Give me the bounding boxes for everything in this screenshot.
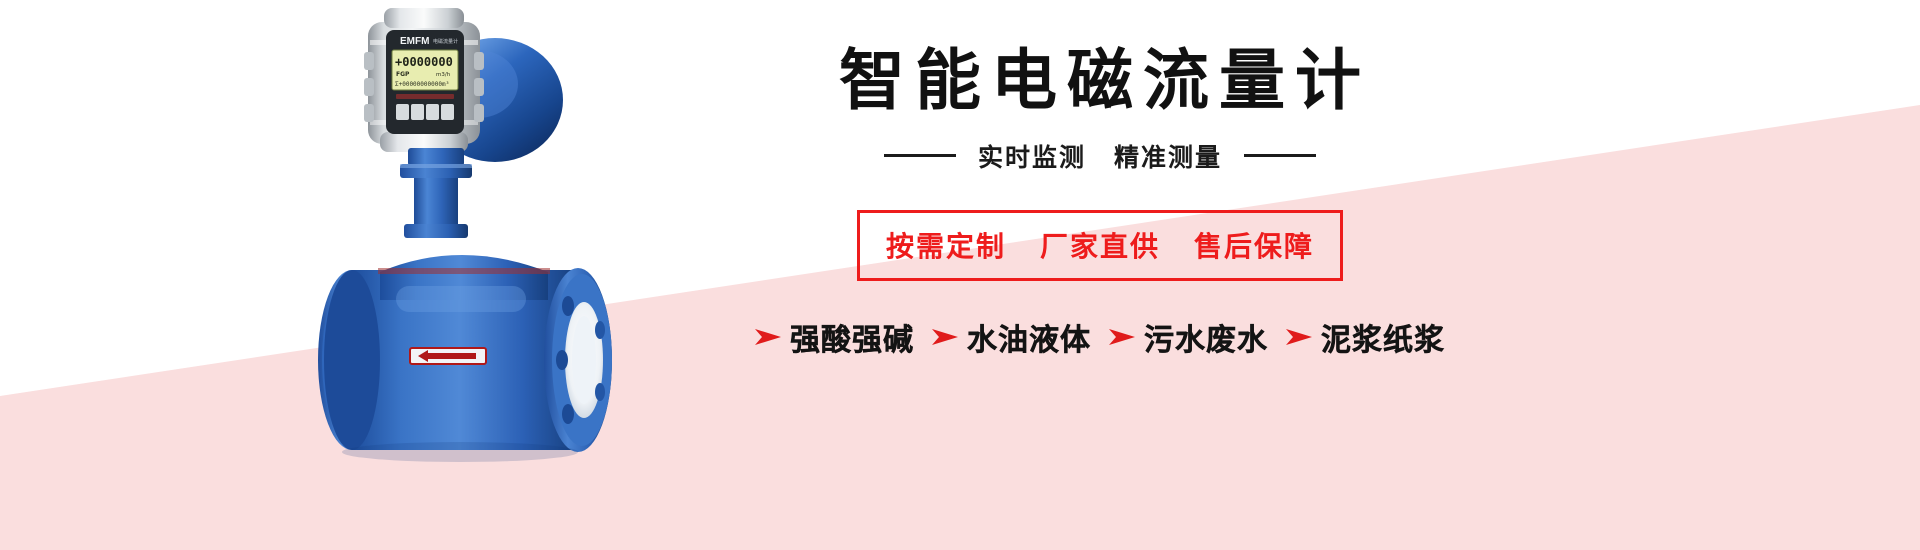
triangle-right-icon bbox=[1286, 327, 1312, 347]
subtitle-item-0: 实时监测 bbox=[978, 138, 1086, 174]
promo-badge-text: 按需定制 厂家直供 售后保障 bbox=[886, 225, 1314, 265]
feature-item-1: 水油液体 bbox=[932, 315, 1091, 359]
triangle-right-icon bbox=[755, 327, 781, 347]
feature-item-0: 强酸强碱 bbox=[755, 315, 914, 359]
product-banner: EMFM 电磁流量计 +0000000 FGP m3/h Σ+000000000… bbox=[0, 0, 1920, 550]
feature-item-3: 泥浆纸浆 bbox=[1286, 315, 1445, 359]
feature-list: 强酸强碱 水油液体 污水废水 泥浆纸浆 bbox=[755, 315, 1445, 359]
badge-item-1: 厂家直供 bbox=[1040, 225, 1160, 265]
banner-content: 智能电磁流量计 实时监测 精准测量 按需定制 厂家直供 售后保障 强酸强碱 bbox=[600, 0, 1600, 550]
converter-neck bbox=[400, 148, 472, 238]
badge-item-2: 售后保障 bbox=[1194, 225, 1314, 265]
lcd-right-label: m3/h bbox=[436, 72, 451, 78]
triangle-right-icon bbox=[932, 327, 958, 347]
feature-label-0: 强酸强碱 bbox=[790, 315, 914, 359]
rule-left-icon bbox=[884, 154, 956, 157]
flow-direction-arrow-plate bbox=[410, 348, 486, 364]
converter-brand-sub-label: 电磁流量计 bbox=[433, 38, 458, 45]
subtitle-item-1: 精准测量 bbox=[1114, 138, 1222, 174]
feature-label-2: 污水废水 bbox=[1144, 315, 1268, 359]
converter-brand-label: EMFM bbox=[400, 36, 429, 47]
triangle-right-icon bbox=[1109, 327, 1135, 347]
lcd-main-value: +0000000 bbox=[395, 55, 453, 69]
feature-item-2: 污水废水 bbox=[1109, 315, 1268, 359]
badge-item-0: 按需定制 bbox=[886, 225, 1006, 265]
promo-badge-box: 按需定制 厂家直供 售后保障 bbox=[857, 210, 1343, 281]
feature-label-3: 泥浆纸浆 bbox=[1321, 315, 1445, 359]
feature-label-1: 水油液体 bbox=[967, 315, 1091, 359]
lcd-totalizer-value: Σ+00000000000m³ bbox=[395, 81, 449, 88]
rule-right-icon bbox=[1244, 154, 1316, 157]
subtitle-row: 实时监测 精准测量 bbox=[884, 138, 1316, 174]
subtitle-text: 实时监测 精准测量 bbox=[978, 138, 1222, 174]
page-title: 智能电磁流量计 bbox=[829, 44, 1371, 118]
lcd-left-label: FGP bbox=[396, 71, 410, 78]
